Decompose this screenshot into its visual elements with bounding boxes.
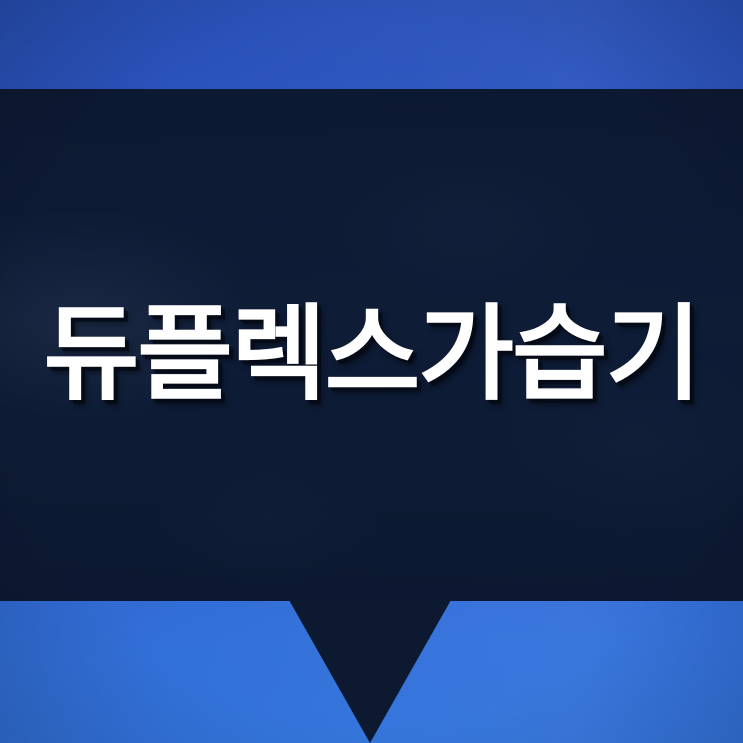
edge-vignette <box>0 0 743 743</box>
thumbnail-canvas: 듀플렉스가습기 <box>0 0 743 743</box>
